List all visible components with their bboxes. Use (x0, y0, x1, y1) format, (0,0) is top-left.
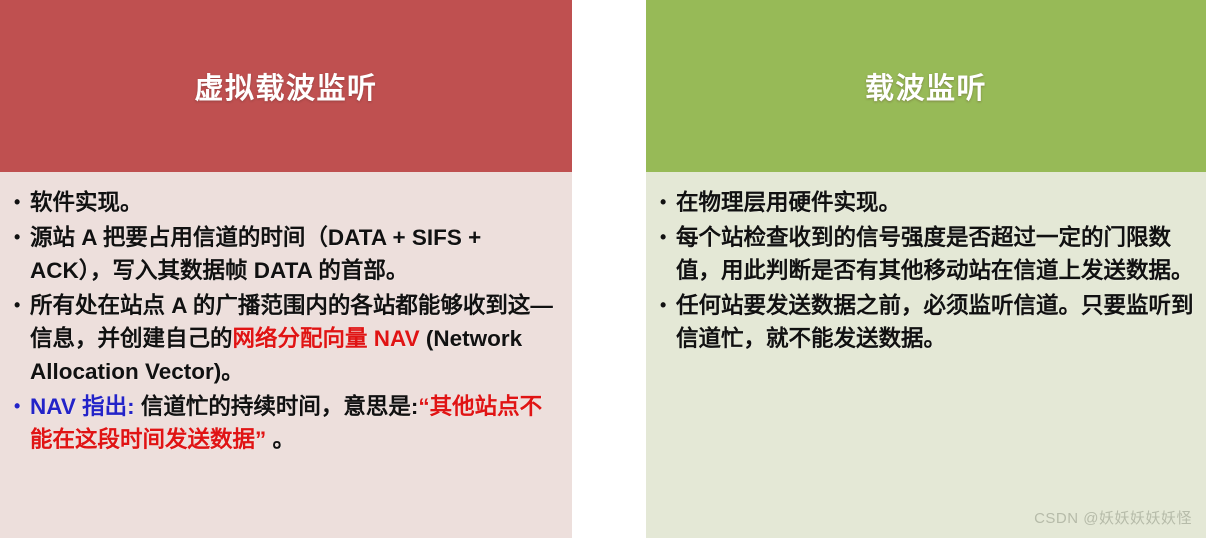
text-segment: 每个站检查收到的信号强度是否超过一定的门限数值，用此判断是否有其他移动站在信道上… (676, 225, 1194, 283)
comparison-slide: 虚拟载波监听 软件实现。源站 A 把要占用信道的时间（DATA + SIFS +… (0, 0, 1218, 538)
right-panel-header: 载波监听 (646, 0, 1206, 172)
left-panel-title: 虚拟载波监听 (194, 65, 377, 107)
text-segment: 软件实现。 (30, 190, 143, 215)
bullet-source-station-duration: 源站 A 把要占用信道的时间（DATA + SIFS + ACK），写入其数据帧… (10, 221, 564, 287)
right-bullet-list: 在物理层用硬件实现。每个站检查收到的信号强度是否超过一定的门限数值，用此判断是否… (656, 186, 1198, 355)
left-panel-body: 软件实现。源站 A 把要占用信道的时间（DATA + SIFS + ACK），写… (0, 172, 572, 538)
right-panel-title: 载波监听 (865, 65, 987, 107)
bullet-nav-meaning: NAV 指出: 信道忙的持续时间，意思是:“其他站点不能在这段时间发送数据” 。 (10, 390, 564, 456)
left-bullet-list: 软件实现。源站 A 把要占用信道的时间（DATA + SIFS + ACK），写… (10, 186, 564, 456)
bullet-broadcast-range-nav: 所有处在站点 A 的广播范围内的各站都能够收到这—信息，并创建自己的网络分配向量… (10, 289, 564, 388)
csdn-watermark: CSDN @妖妖妖妖妖怪 (1034, 507, 1192, 528)
text-segment: NAV 指出: (30, 394, 135, 419)
text-segment: 源站 A 把要占用信道的时间（DATA + SIFS + ACK），写入其数据帧… (30, 225, 481, 283)
text-segment: 网络分配向量 NAV (233, 326, 426, 351)
bullet-signal-strength-threshold: 每个站检查收到的信号强度是否超过一定的门限数值，用此判断是否有其他移动站在信道上… (656, 221, 1198, 287)
bullet-software-implementation: 软件实现。 (10, 186, 564, 219)
text-segment: 信道忙的持续时间，意思是: (135, 394, 419, 419)
left-panel-header: 虚拟载波监听 (0, 0, 572, 172)
panel-virtual-carrier-sense: 虚拟载波监听 软件实现。源站 A 把要占用信道的时间（DATA + SIFS +… (0, 0, 572, 538)
panel-carrier-sense: 载波监听 在物理层用硬件实现。每个站检查收到的信号强度是否超过一定的门限数值，用… (646, 0, 1206, 538)
text-segment: 任何站要发送数据之前，必须监听信道。只要监听到信道忙，就不能发送数据。 (676, 293, 1194, 351)
bullet-listen-before-send: 任何站要发送数据之前，必须监听信道。只要监听到信道忙，就不能发送数据。 (656, 289, 1198, 355)
text-segment: 在物理层用硬件实现。 (676, 190, 901, 215)
right-panel-body: 在物理层用硬件实现。每个站检查收到的信号强度是否超过一定的门限数值，用此判断是否… (646, 172, 1206, 538)
bullet-physical-layer-hardware: 在物理层用硬件实现。 (656, 186, 1198, 219)
text-segment: 。 (266, 427, 295, 452)
